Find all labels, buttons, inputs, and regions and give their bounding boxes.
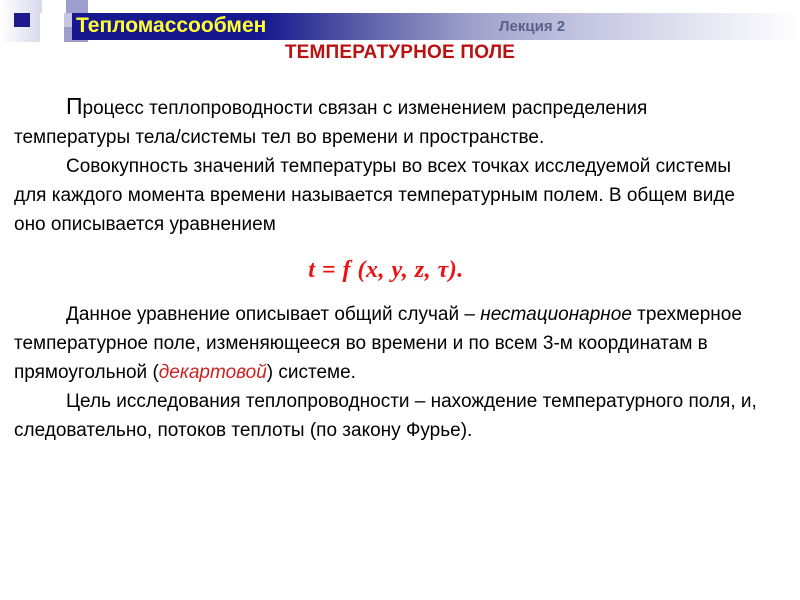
paragraph-process: Процесс теплопроводности связан с измене… bbox=[14, 92, 758, 152]
decorative-square-white-1 bbox=[44, 0, 66, 13]
decorative-square-white-2 bbox=[40, 13, 64, 27]
decorative-square-white-3 bbox=[40, 27, 64, 42]
paragraph-lead-letter: П bbox=[66, 93, 83, 119]
paragraph-nonstationary: Данное уравнение описывает общий случай … bbox=[14, 300, 758, 387]
slide-header: Тепломассообмен Лекция 2 bbox=[0, 0, 800, 42]
temperature-field-equation: t = f (x, y, z, τ). bbox=[14, 257, 758, 284]
lecture-number-label: Лекция 2 bbox=[499, 14, 565, 39]
paragraph-definition: Совокупность значений температуры во все… bbox=[14, 152, 758, 239]
paragraph-goal-text: Цель исследования теплопроводности – нах… bbox=[14, 391, 757, 441]
paragraph-nonstationary-part3: ) системе. bbox=[267, 362, 356, 383]
decorative-square-navy bbox=[14, 13, 30, 27]
emphasis-dekartovoy: декартовой bbox=[159, 362, 267, 383]
paragraph-goal: Цель исследования теплопроводности – нах… bbox=[14, 387, 758, 445]
page-title: ТЕМПЕРАТУРНОЕ ПОЛЕ bbox=[0, 42, 800, 64]
slide-body: Процесс теплопроводности связан с измене… bbox=[14, 92, 758, 445]
paragraph-nonstationary-part1: Данное уравнение описывает общий случай … bbox=[66, 304, 480, 325]
paragraph-process-text: роцесс теплопроводности связан с изменен… bbox=[14, 98, 647, 148]
emphasis-nestatsionarnoe: нестационарное bbox=[480, 304, 632, 325]
course-title: Тепломассообмен bbox=[76, 12, 266, 39]
paragraph-definition-text: Совокупность значений температуры во все… bbox=[14, 156, 735, 235]
